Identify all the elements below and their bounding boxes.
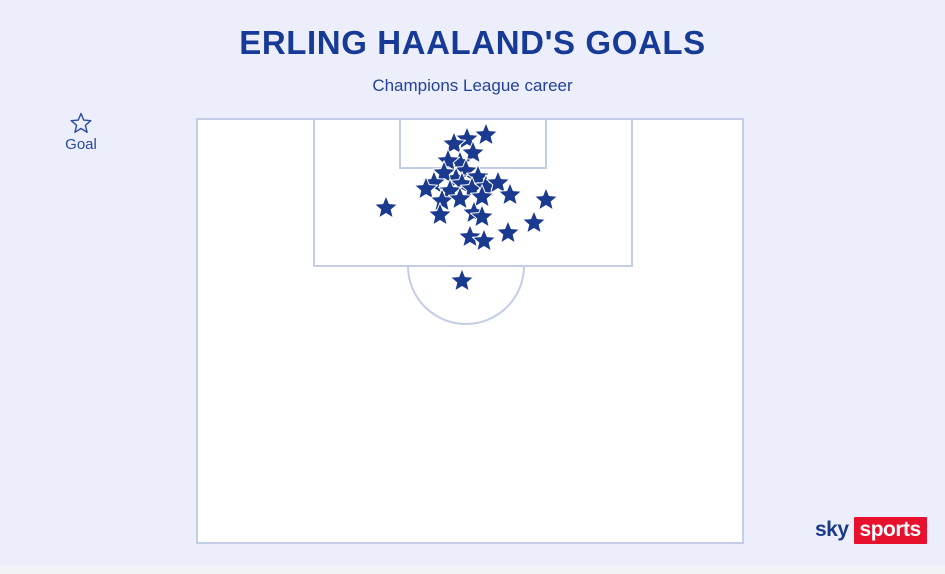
legend-label: Goal: [48, 136, 114, 153]
sky-wordmark: sky: [815, 518, 849, 542]
bottom-strip: [0, 565, 945, 574]
page-subtitle: Champions League career: [0, 76, 945, 96]
page-title: ERLING HAALAND'S GOALS: [0, 24, 945, 62]
sky-sports-logo: sky sports: [815, 518, 927, 542]
pitch-diagram: [196, 118, 744, 544]
star-outline-icon: [70, 112, 92, 134]
sports-wordmark: sports: [854, 517, 927, 544]
goal-marker: [495, 219, 521, 245]
goal-marker: [427, 201, 453, 227]
goal-marker: [521, 209, 547, 235]
goal-marker: [449, 267, 475, 293]
legend: Goal: [48, 112, 114, 153]
goal-marker: [373, 194, 399, 220]
goal-markers-layer: [198, 120, 746, 546]
goal-marker: [497, 181, 523, 207]
goal-marker: [471, 227, 497, 253]
